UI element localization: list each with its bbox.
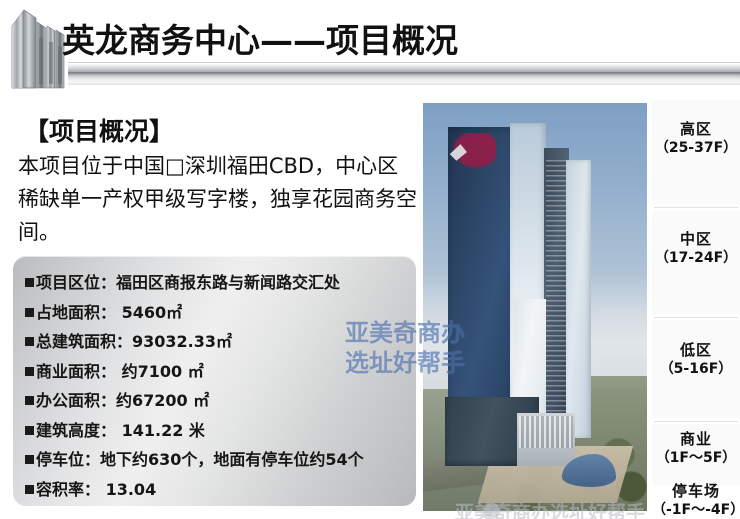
tower-slab-volume xyxy=(544,148,569,442)
spec-label: 总建筑面积： xyxy=(36,332,132,351)
zone-range: （17-24F） xyxy=(652,249,740,268)
spec-label: 项目区位： xyxy=(36,273,116,292)
zone-legend-column: 高区 （25-37F） 中区 （17-24F） 低区 （5-16F） 商业 （1… xyxy=(652,96,740,519)
page-title: 英龙商务中心——项目概况 xyxy=(62,14,458,62)
list-item: 建筑高度： 141.22 米 xyxy=(25,416,416,446)
list-item: 商业面积： 约7100 ㎡ xyxy=(25,357,416,387)
zone-range: （1F～5F） xyxy=(652,449,740,468)
list-item: 停车位：地下约630个，地面有停车位约54个 xyxy=(25,445,416,475)
spec-value: 地下约630个，地面有停车位约54个 xyxy=(100,450,364,469)
zone-item-parking[interactable]: 停车场 （-1F～-4F） xyxy=(652,482,740,519)
zone-item-mid[interactable]: 中区 （17-24F） xyxy=(652,230,740,268)
spec-panel: 项目区位：福田区商报东路与新闻路交汇处 占地面积： 5460㎡ 总建筑面积：93… xyxy=(13,256,416,506)
zone-divider xyxy=(654,421,738,422)
zone-range: （-1F～-4F） xyxy=(652,501,740,519)
list-item: 占地面积： 5460㎡ xyxy=(25,298,416,328)
slide-root: 英龙商务中心——项目概况 【项目概况】 本项目位于中国□深圳福田CBD，中心区稀… xyxy=(0,0,740,519)
square-bullet-icon xyxy=(25,426,34,435)
title-divider-bar xyxy=(68,62,740,85)
zone-range: （25-37F） xyxy=(652,139,740,158)
list-item: 办公面积：约67200 ㎡ xyxy=(25,386,416,416)
spec-label: 停车位： xyxy=(36,450,100,469)
square-bullet-icon xyxy=(25,485,34,494)
overview-heading: 【项目概况】 xyxy=(24,112,174,148)
spec-label: 商业面积： xyxy=(36,362,116,381)
spec-value: 约67200 ㎡ xyxy=(116,391,209,410)
spec-list: 项目区位：福田区商报东路与新闻路交汇处 占地面积： 5460㎡ 总建筑面积：93… xyxy=(13,256,416,506)
spec-value: 5460㎡ xyxy=(116,303,182,322)
watermark-dot-icon xyxy=(484,503,500,519)
spec-label: 容积率： xyxy=(36,480,100,499)
list-item: 项目区位：福田区商报东路与新闻路交汇处 xyxy=(25,268,416,298)
zone-divider xyxy=(654,207,738,208)
square-bullet-icon xyxy=(25,308,34,317)
spec-value: 13.04 xyxy=(100,480,156,499)
spec-value: 93032.33㎡ xyxy=(132,332,232,351)
square-bullet-icon xyxy=(25,396,34,405)
zone-name: 中区 xyxy=(652,230,740,249)
overview-body: 本项目位于中国□深圳福田CBD，中心区稀缺单一产权甲级写字楼，独享花园商务空间。 xyxy=(18,150,418,249)
zone-name: 高区 xyxy=(652,120,740,139)
tower-right-volume xyxy=(566,160,591,437)
zone-item-retail[interactable]: 商业 （1F～5F） xyxy=(652,430,740,468)
spec-label: 建筑高度： xyxy=(36,421,116,440)
spec-value: 福田区商报东路与新闻路交汇处 xyxy=(116,273,340,292)
zone-divider xyxy=(654,317,738,318)
square-bullet-icon xyxy=(25,278,34,287)
list-item: 容积率： 13.04 xyxy=(25,475,416,505)
slide-header: 英龙商务中心——项目概况 xyxy=(0,0,740,96)
podium-light xyxy=(517,413,575,466)
zone-name: 停车场 xyxy=(652,482,740,501)
tower-dark-volume xyxy=(448,127,520,404)
zone-range: （5-16F） xyxy=(652,360,740,379)
building-render-image xyxy=(422,102,648,512)
spec-label: 办公面积： xyxy=(36,391,116,410)
zone-item-high[interactable]: 高区 （25-37F） xyxy=(652,120,740,158)
square-bullet-icon xyxy=(25,455,34,464)
square-bullet-icon xyxy=(25,337,34,346)
zone-item-low[interactable]: 低区 （5-16F） xyxy=(652,341,740,379)
spec-value: 141.22 米 xyxy=(116,421,205,440)
spec-label: 占地面积： xyxy=(36,303,116,322)
square-bullet-icon xyxy=(25,367,34,376)
list-item: 总建筑面积：93032.33㎡ xyxy=(25,327,416,357)
spec-value: 约7100 ㎡ xyxy=(116,362,204,381)
zone-name: 商业 xyxy=(652,430,740,449)
zone-name: 低区 xyxy=(652,341,740,360)
